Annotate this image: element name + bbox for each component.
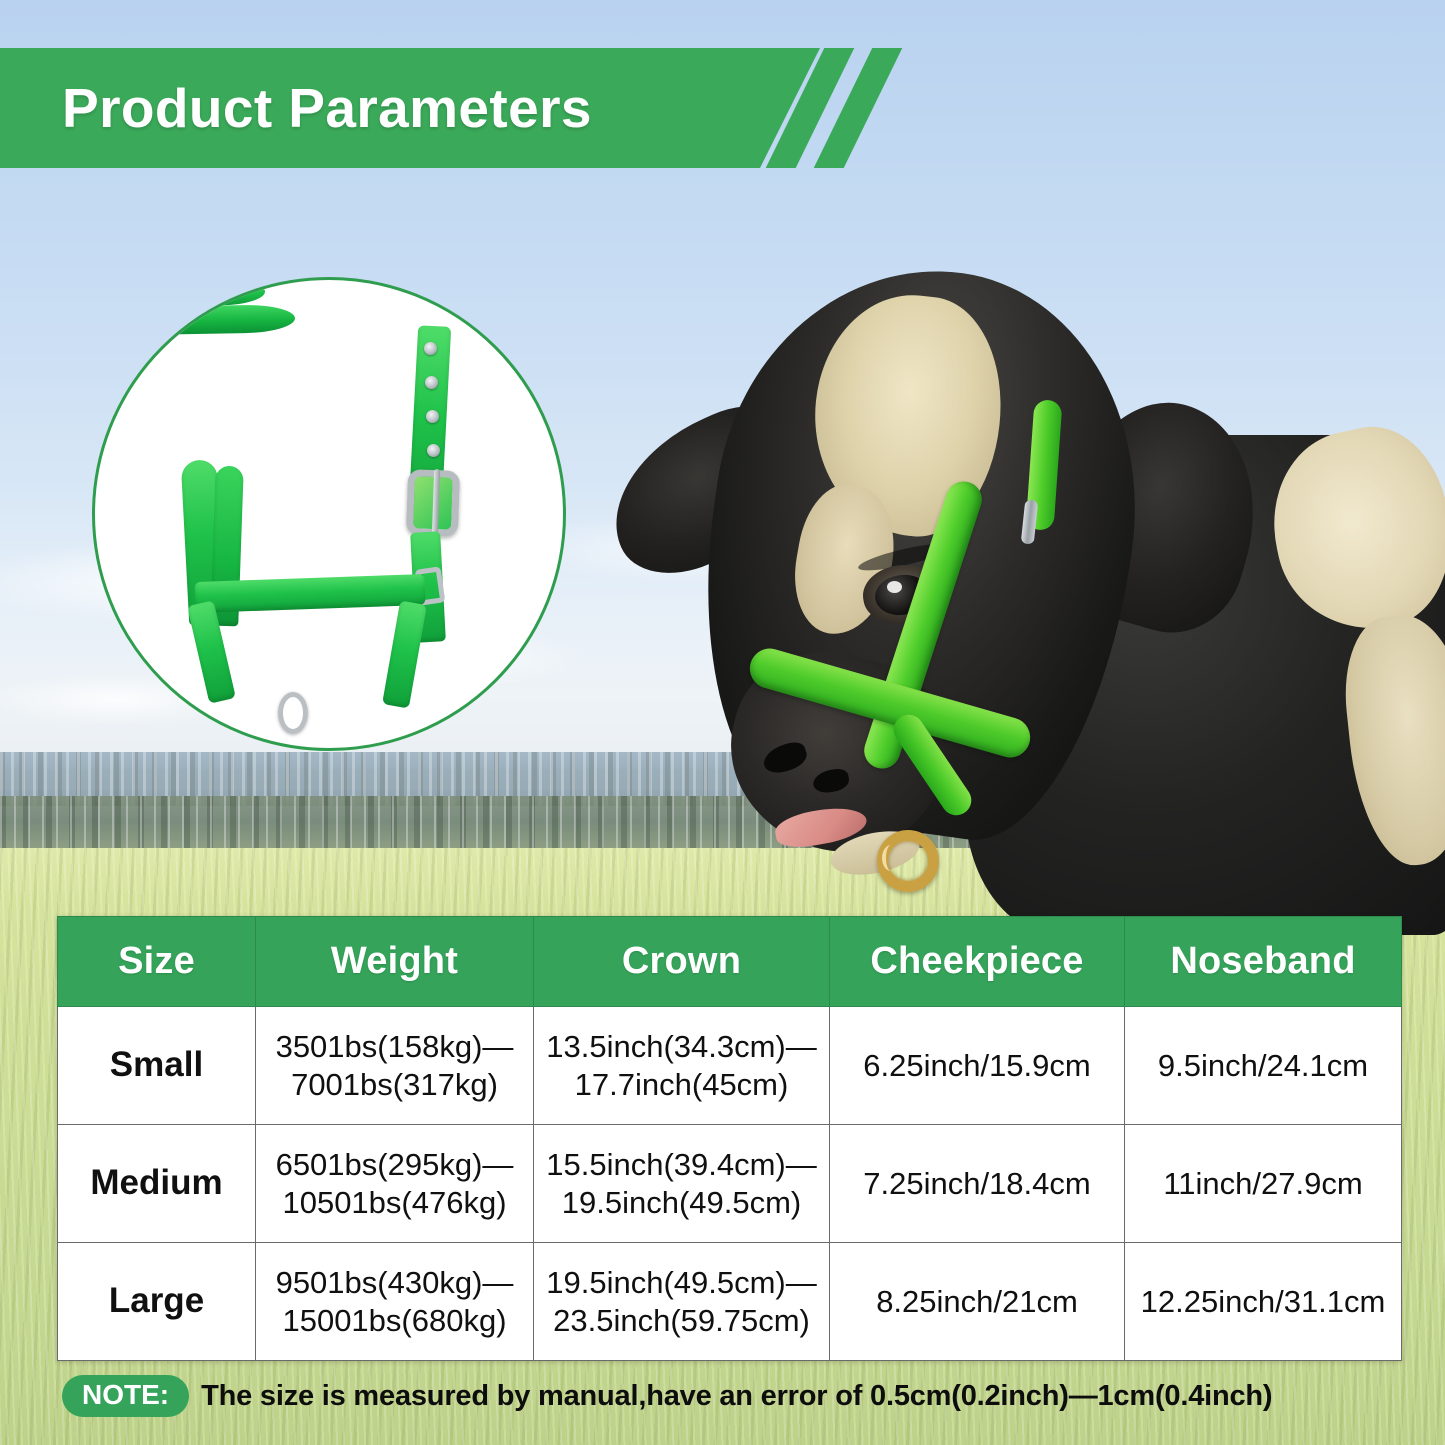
cell-cheekpiece: 6.25inch/15.9cm (830, 1007, 1125, 1125)
halter-punch-hole (424, 342, 437, 355)
cell-noseband: 9.5inch/24.1cm (1125, 1007, 1402, 1125)
table-row: Small 3501bs(158kg)— 7001bs(317kg) 13.5i… (58, 1007, 1402, 1125)
halter-noseband-strap (195, 574, 426, 613)
halter-throat-strap (95, 304, 295, 335)
cell-crown: 13.5inch(34.3cm)— 17.7inch(45cm) (534, 1007, 830, 1125)
cell-weight: 3501bs(158kg)— 7001bs(317kg) (256, 1007, 534, 1125)
halter-lower-right-strap (382, 600, 427, 708)
cell-size: Medium (58, 1125, 256, 1243)
note-badge: NOTE: (62, 1375, 189, 1417)
cell-noseband: 11inch/27.9cm (1125, 1125, 1402, 1243)
page-title: Product Parameters (62, 76, 592, 140)
table-row: Large 9501bs(430kg)— 15001bs(680kg) 19.5… (58, 1243, 1402, 1361)
cell-crown: 15.5inch(39.4cm)— 19.5inch(49.5cm) (534, 1125, 830, 1243)
cow-eye-highlight (887, 581, 902, 593)
cell-crown: 19.5inch(49.5cm)— 23.5inch(59.75cm) (534, 1243, 830, 1361)
cell-size: Large (58, 1243, 256, 1361)
cow-photo (575, 185, 1445, 925)
cell-weight: 6501bs(295kg)— 10501bs(476kg) (256, 1125, 534, 1243)
worn-halter-brass-ring (877, 830, 939, 892)
column-header-noseband: Noseband (1125, 917, 1402, 1007)
cell-cheekpiece: 7.25inch/18.4cm (830, 1125, 1125, 1243)
cell-cheekpiece: 8.25inch/21cm (830, 1243, 1125, 1361)
halter-lead-ring (278, 692, 308, 734)
cell-weight: 9501bs(430kg)— 15001bs(680kg) (256, 1243, 534, 1361)
table-header-row: Size Weight Crown Cheekpiece Noseband (58, 917, 1402, 1007)
halter-throat-strap-inner (95, 279, 265, 308)
halter-punch-hole (425, 376, 438, 389)
column-header-crown: Crown (534, 917, 830, 1007)
halter-punch-hole (427, 444, 440, 457)
product-inset-circle (92, 277, 566, 751)
title-banner: Product Parameters (0, 48, 820, 168)
halter-product-illustration (95, 280, 566, 751)
note-row: NOTE: The size is measured by manual,hav… (62, 1370, 1402, 1422)
cell-noseband: 12.25inch/31.1cm (1125, 1243, 1402, 1361)
cell-size: Small (58, 1007, 256, 1125)
halter-punch-hole (426, 410, 439, 423)
product-parameters-poster: Product Parameters Size Weight Crown Che… (0, 0, 1445, 1445)
column-header-weight: Weight (256, 917, 534, 1007)
halter-buckle (406, 469, 460, 537)
column-header-size: Size (58, 917, 256, 1007)
table-row: Medium 6501bs(295kg)— 10501bs(476kg) 15.… (58, 1125, 1402, 1243)
size-spec-table: Size Weight Crown Cheekpiece Noseband Sm… (57, 916, 1402, 1361)
column-header-cheekpiece: Cheekpiece (830, 917, 1125, 1007)
note-text: The size is measured by manual,have an e… (201, 1380, 1272, 1413)
